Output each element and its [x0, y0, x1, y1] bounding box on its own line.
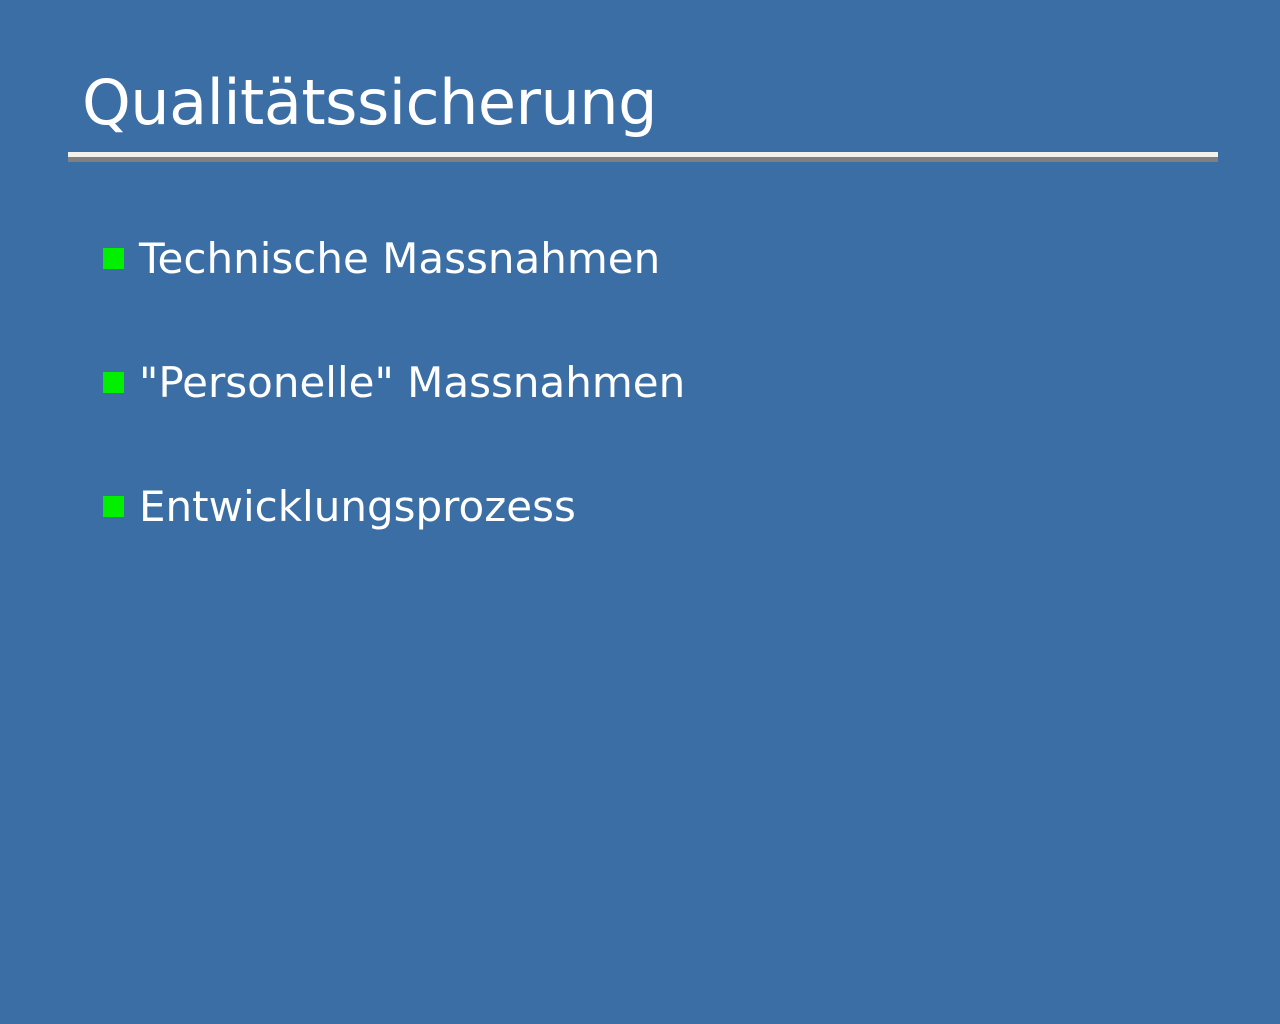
- list-item-label: Technische Massnahmen: [139, 236, 660, 282]
- slide-bullet-list: Technische Massnahmen "Personelle" Massn…: [103, 236, 1203, 608]
- green-square-bullet-icon: [103, 248, 124, 269]
- list-item-label: "Personelle" Massnahmen: [139, 360, 685, 406]
- page-title: Qualitätssicherung: [82, 62, 657, 144]
- list-item-label: Entwicklungsprozess: [139, 484, 576, 530]
- list-item: Technische Massnahmen: [103, 236, 1203, 360]
- title-underline-rule: [68, 152, 1218, 162]
- green-square-bullet-icon: [103, 496, 124, 517]
- list-item: Entwicklungsprozess: [103, 484, 1203, 608]
- presentation-slide: Qualitätssicherung Technische Massnahmen…: [0, 0, 1280, 1024]
- title-rule-dark-band: [68, 157, 1218, 162]
- list-item: "Personelle" Massnahmen: [103, 360, 1203, 484]
- green-square-bullet-icon: [103, 372, 124, 393]
- slide-title-block: Qualitätssicherung: [68, 62, 1218, 162]
